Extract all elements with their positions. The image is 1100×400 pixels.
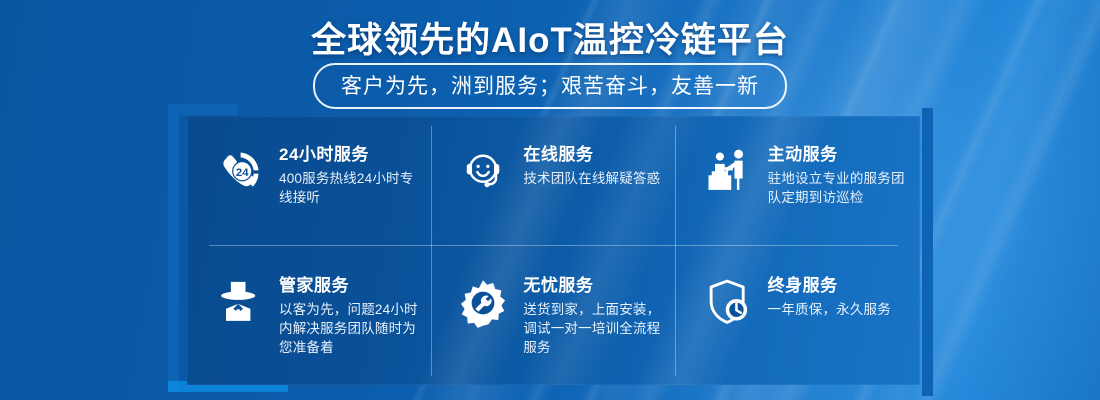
- service-title: 24小时服务: [279, 144, 421, 165]
- service-banner: 全球领先的AIoT温控冷链平台 客户为先，洲到服务；艰苦奋斗，友善一新 24: [0, 0, 1100, 400]
- page-title: 全球领先的AIoT温控冷链平台: [0, 12, 1100, 63]
- service-title: 终身服务: [768, 275, 891, 296]
- services-grid: 24 24小时服务 400服务热线24小时专线接听: [187, 116, 920, 385]
- services-panel: 24 24小时服务 400服务热线24小时专线接听: [187, 116, 920, 385]
- headset-smiley-icon: [455, 144, 511, 200]
- frame-bar-right: [922, 108, 933, 396]
- service-text: 主动服务 驻地设立专业的服务团队定期到访巡检: [768, 142, 910, 208]
- gear-wrench-icon: [455, 275, 511, 331]
- svg-text:24: 24: [236, 167, 249, 179]
- service-item-butler[interactable]: 管家服务 以客为先，问题24小时内解决服务团队随时为您准备着: [187, 251, 431, 386]
- service-item-24h[interactable]: 24 24小时服务 400服务热线24小时专线接听: [187, 116, 431, 251]
- service-desk-people-icon: [700, 144, 756, 200]
- service-desc: 送货到家，上面安装，调试一对一培训全流程服务: [523, 300, 665, 357]
- service-desc: 以客为先，问题24小时内解决服务团队随时为您准备着: [279, 300, 421, 357]
- frame-bar-left: [168, 104, 179, 392]
- service-desc: 400服务热线24小时专线接听: [279, 169, 421, 207]
- service-item-lifetime[interactable]: 终身服务 一年质保，永久服务: [676, 251, 920, 386]
- service-text: 无忧服务 送货到家，上面安装，调试一对一培训全流程服务: [523, 273, 665, 358]
- service-item-proactive[interactable]: 主动服务 驻地设立专业的服务团队定期到访巡检: [676, 116, 920, 251]
- service-desc: 技术团队在线解疑答惑: [523, 169, 660, 188]
- service-text: 终身服务 一年质保，永久服务: [768, 273, 891, 319]
- service-title: 主动服务: [768, 144, 910, 165]
- service-item-worryfree[interactable]: 无忧服务 送货到家，上面安装，调试一对一培训全流程服务: [431, 251, 675, 386]
- butler-tophat-icon: [211, 275, 267, 331]
- service-item-online[interactable]: 在线服务 技术团队在线解疑答惑: [431, 116, 675, 251]
- service-text: 管家服务 以客为先，问题24小时内解决服务团队随时为您准备着: [279, 273, 421, 358]
- subtitle-container: 客户为先，洲到服务；艰苦奋斗，友善一新: [0, 63, 1100, 109]
- service-desc: 驻地设立专业的服务团队定期到访巡检: [768, 169, 910, 207]
- service-title: 无忧服务: [523, 275, 665, 296]
- service-desc: 一年质保，永久服务: [768, 300, 891, 319]
- subtitle-pill: 客户为先，洲到服务；艰苦奋斗，友善一新: [313, 63, 787, 109]
- service-text: 24小时服务 400服务热线24小时专线接听: [279, 142, 421, 208]
- service-title: 在线服务: [523, 144, 660, 165]
- service-text: 在线服务 技术团队在线解疑答惑: [523, 142, 660, 188]
- shield-clock-icon: [700, 275, 756, 331]
- service-title: 管家服务: [279, 275, 421, 296]
- phone-24h-icon: 24: [211, 144, 267, 200]
